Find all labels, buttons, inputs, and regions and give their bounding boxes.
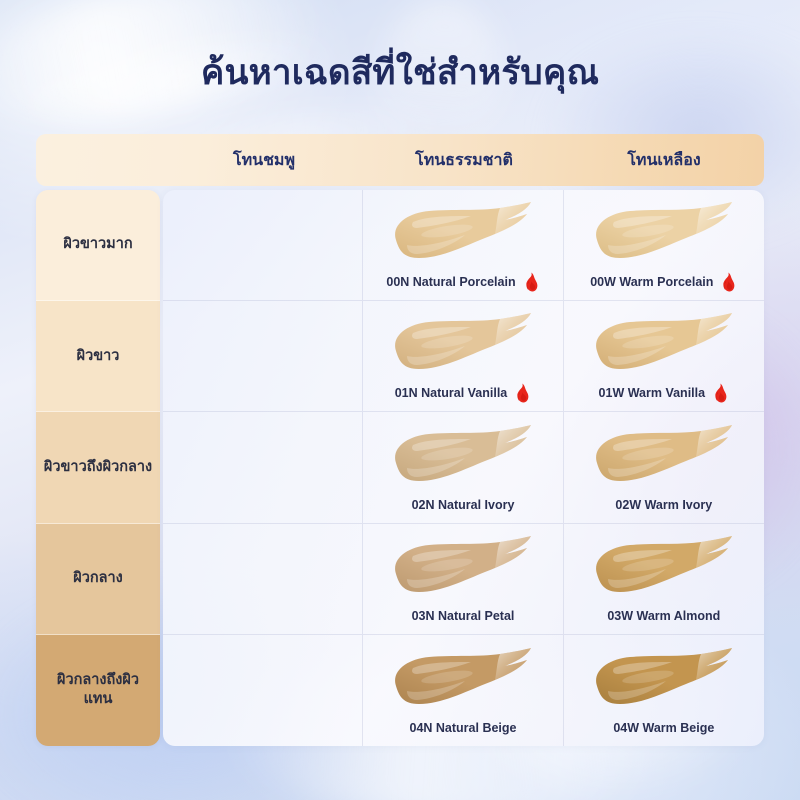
page-title: ค้นหาเฉดสีที่ใช่สำหรับคุณ [0, 45, 800, 100]
shade-name-label: 00N Natural Porcelain [386, 275, 515, 289]
shade-cell[interactable]: 04W Warm Beige [564, 635, 764, 746]
bestseller-badge [513, 383, 531, 403]
foundation-swatch-svg [588, 198, 740, 270]
foundation-swatch [387, 421, 539, 493]
foundation-swatch-svg [588, 309, 740, 381]
shade-cell[interactable]: 04N Natural Beige [363, 635, 563, 746]
shade-cell[interactable]: 03N Natural Petal [363, 524, 563, 635]
swatch-tail-highlight [495, 202, 531, 234]
swatch-tail-highlight [696, 648, 732, 680]
swatch-tail-highlight [495, 313, 531, 345]
foundation-swatch [387, 532, 539, 604]
sidebar-item-label: ผิวกลางถึงผิวแทน [43, 671, 153, 710]
flame-icon [719, 272, 737, 292]
shade-name-label: 03W Warm Almond [607, 609, 720, 623]
shade-cell[interactable]: 00N Natural Porcelain [363, 190, 563, 301]
flame-icon [522, 272, 540, 292]
shade-name-row: 04N Natural Beige [410, 718, 517, 738]
shade-name-label: 04W Warm Beige [613, 721, 714, 735]
swatch-tail-highlight [495, 648, 531, 680]
foundation-swatch-svg [387, 644, 539, 716]
shade-name-row: 01W Warm Vanilla [599, 383, 730, 403]
empty-cell [163, 301, 363, 412]
foundation-swatch [588, 309, 740, 381]
shade-name-label: 02N Natural Ivory [412, 498, 515, 512]
sidebar-item-label: ผิวขาวมาก [63, 235, 132, 255]
flame-icon [513, 383, 531, 403]
sidebar-item-label: ผิวขาว [77, 347, 120, 367]
shade-name-label: 04N Natural Beige [410, 721, 517, 735]
sidebar-item-4[interactable]: ผิวกลางถึงผิวแทน [36, 635, 160, 746]
shade-name-row: 01N Natural Vanilla [395, 383, 532, 403]
shade-finder-page: ค้นหาเฉดสีที่ใช่สำหรับคุณ โทนชมพู โทนธรร… [0, 0, 800, 800]
shade-table-panel: 00N Natural Porcelain 00W Warm Porcelain [163, 190, 764, 746]
swatch-tail-highlight [495, 536, 531, 568]
column-header-pink: โทนชมพู [164, 148, 364, 173]
empty-cell [163, 635, 363, 746]
shade-name-row: 04W Warm Beige [613, 718, 714, 738]
column-header-bar: โทนชมพู โทนธรรมชาติ โทนเหลือง [36, 134, 764, 186]
shade-grid: 00N Natural Porcelain 00W Warm Porcelain [163, 190, 764, 746]
empty-cell [163, 412, 363, 523]
swatch-tail-highlight [696, 313, 732, 345]
foundation-swatch [387, 644, 539, 716]
shade-cell[interactable]: 03W Warm Almond [564, 524, 764, 635]
shade-name-row: 00W Warm Porcelain [590, 272, 737, 292]
shade-name-row: 03N Natural Petal [412, 606, 515, 626]
shade-name-label: 00W Warm Porcelain [590, 275, 713, 289]
shade-cell[interactable]: 02N Natural Ivory [363, 412, 563, 523]
shade-name-label: 03N Natural Petal [412, 609, 515, 623]
shade-cell[interactable]: 00W Warm Porcelain [564, 190, 764, 301]
foundation-swatch [588, 532, 740, 604]
foundation-swatch-svg [387, 421, 539, 493]
foundation-swatch [387, 309, 539, 381]
skin-tone-sidebar: ผิวขาวมากผิวขาวผิวขาวถึงผิวกลางผิวกลางผิ… [36, 190, 160, 746]
foundation-swatch-svg [588, 421, 740, 493]
sidebar-item-2[interactable]: ผิวขาวถึงผิวกลาง [36, 412, 160, 523]
shade-name-row: 02N Natural Ivory [412, 495, 515, 515]
flame-icon [711, 383, 729, 403]
bestseller-badge [711, 383, 729, 403]
column-header-yellow: โทนเหลือง [564, 148, 764, 173]
foundation-swatch-svg [387, 309, 539, 381]
foundation-swatch [387, 198, 539, 270]
column-header-natural: โทนธรรมชาติ [364, 148, 564, 173]
foundation-swatch [588, 644, 740, 716]
shade-name-row: 02W Warm Ivory [615, 495, 712, 515]
swatch-tail-highlight [495, 425, 531, 457]
foundation-swatch-svg [387, 198, 539, 270]
empty-cell [163, 190, 363, 301]
shade-name-label: 02W Warm Ivory [615, 498, 712, 512]
foundation-swatch [588, 198, 740, 270]
foundation-swatch-svg [588, 644, 740, 716]
foundation-swatch [588, 421, 740, 493]
shade-name-label: 01W Warm Vanilla [599, 386, 706, 400]
shade-cell[interactable]: 01W Warm Vanilla [564, 301, 764, 412]
bestseller-badge [719, 272, 737, 292]
shade-name-row: 00N Natural Porcelain [386, 272, 539, 292]
sidebar-item-1[interactable]: ผิวขาว [36, 301, 160, 412]
shade-name-label: 01N Natural Vanilla [395, 386, 508, 400]
empty-cell [163, 524, 363, 635]
foundation-swatch-svg [588, 532, 740, 604]
shade-name-row: 03W Warm Almond [607, 606, 720, 626]
foundation-swatch-svg [387, 532, 539, 604]
bestseller-badge [522, 272, 540, 292]
sidebar-item-0[interactable]: ผิวขาวมาก [36, 190, 160, 301]
sidebar-item-3[interactable]: ผิวกลาง [36, 524, 160, 635]
sidebar-item-label: ผิวกลาง [73, 569, 123, 589]
swatch-tail-highlight [696, 425, 732, 457]
swatch-tail-highlight [696, 536, 732, 568]
swatch-tail-highlight [696, 202, 732, 234]
shade-cell[interactable]: 01N Natural Vanilla [363, 301, 563, 412]
sidebar-item-label: ผิวขาวถึงผิวกลาง [44, 458, 152, 478]
shade-cell[interactable]: 02W Warm Ivory [564, 412, 764, 523]
